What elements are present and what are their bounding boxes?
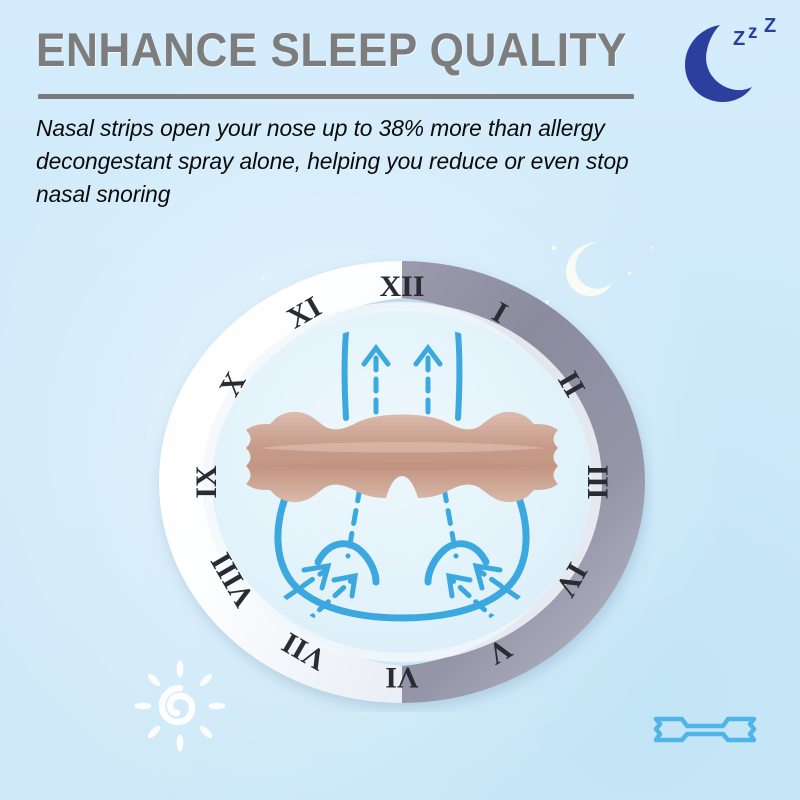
star-speck: [650, 246, 653, 249]
z-top: Z: [764, 18, 776, 37]
sun-ray: [146, 724, 162, 740]
z-large-right: Z: [733, 28, 745, 50]
numeral-IX: IX: [190, 465, 223, 499]
crescent-moon-zzz-icon: Z z Z: [672, 18, 784, 106]
page-title: ENHANCE SLEEP QUALITY: [36, 26, 627, 73]
star-speck: [552, 246, 556, 250]
z-small: z: [748, 22, 758, 43]
subtitle-text: Nasal strips open your nose up to 38% mo…: [36, 112, 686, 211]
strip-outline-path: [656, 719, 754, 740]
sun-ray: [198, 724, 214, 740]
nasal-strip-outline-icon: [646, 706, 764, 756]
moon-zzz-badge: Z z Z: [672, 18, 784, 106]
numeral-III: III: [581, 464, 614, 499]
bridge-line-right: [458, 332, 460, 418]
bridge-line-left: [345, 332, 347, 418]
numeral-VI: VI: [385, 661, 418, 694]
sun-ray: [135, 703, 152, 710]
clock-dial: XII I II III IV V VI VII VIII IX X XI: [150, 252, 654, 712]
numeral-XII: XII: [379, 270, 424, 303]
header: ENHANCE SLEEP QUALITY Nasal strips open …: [0, 0, 800, 240]
poster-root: ENHANCE SLEEP QUALITY Nasal strips open …: [0, 0, 800, 800]
sun-ray: [177, 735, 184, 752]
title-divider: [38, 94, 634, 99]
